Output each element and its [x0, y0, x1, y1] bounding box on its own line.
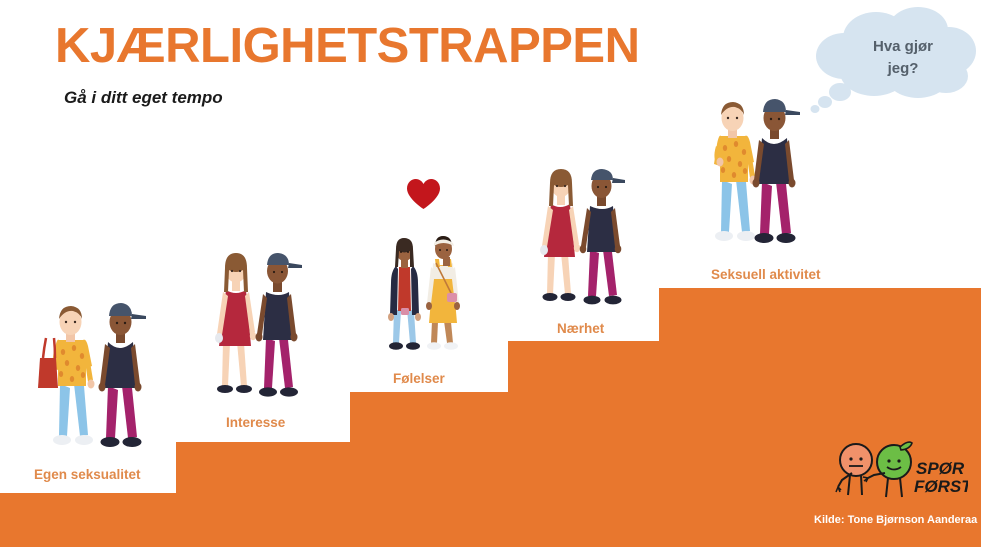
spor-forst-logo-graphic: SPØR FØRST!	[828, 440, 968, 505]
thought-bubble-text-line1: Hva gjør	[853, 37, 953, 57]
slide-canvas: KJÆRLIGHETSTRAPPEN Gå i ditt eget tempo …	[0, 0, 981, 547]
person-cap-tank	[580, 169, 625, 304]
logo-text: SPØR FØRST!	[914, 459, 968, 496]
logo-text-line2: FØRST!	[914, 477, 968, 496]
thought-bubble: Hva gjør jeg?	[806, 6, 981, 121]
step-2-figures	[209, 246, 314, 411]
heart-icon	[406, 178, 441, 215]
page-title: KJÆRLIGHETSTRAPPEN	[55, 22, 640, 71]
step-label-5: Seksuell aktivitet	[711, 267, 821, 282]
couple-illustration-4	[535, 163, 635, 313]
heart-shape	[406, 178, 441, 210]
person-red-dress	[540, 169, 580, 301]
person-red-dress	[215, 253, 256, 393]
step-4-figures	[535, 163, 635, 318]
thought-bubble-text-line2: jeg?	[853, 59, 953, 79]
step-3-figures	[384, 233, 474, 366]
person-yellow-shirt	[38, 306, 95, 445]
person-navy-jacket	[388, 238, 421, 350]
spor-forst-logo: SPØR FØRST!	[828, 440, 968, 510]
logo-figure-right	[863, 442, 912, 497]
step-label-1: Egen seksualitet	[34, 467, 141, 482]
step-5-figures	[708, 92, 808, 257]
person-yellow-shirt	[714, 102, 757, 241]
couple-illustration-3	[384, 233, 474, 361]
person-cap-tank	[99, 303, 147, 447]
source-credit: Kilde: Tone Bjørnson Aanderaa	[814, 514, 977, 526]
couple-illustration-1	[36, 296, 161, 456]
person-cap-tank	[256, 253, 303, 397]
logo-text-line1: SPØR	[916, 459, 965, 478]
page-subtitle: Gå i ditt eget tempo	[64, 88, 223, 108]
logo-figure-left	[836, 444, 872, 495]
step-label-4: Nærhet	[557, 321, 604, 336]
couple-illustration-2	[209, 246, 314, 406]
person-yellow-dress	[426, 236, 460, 350]
couple-illustration-5	[708, 92, 808, 252]
step-1-figures	[36, 296, 161, 461]
step-label-3: Følelser	[393, 371, 445, 386]
person-cap-tank	[753, 99, 801, 243]
step-label-2: Interesse	[226, 415, 285, 430]
